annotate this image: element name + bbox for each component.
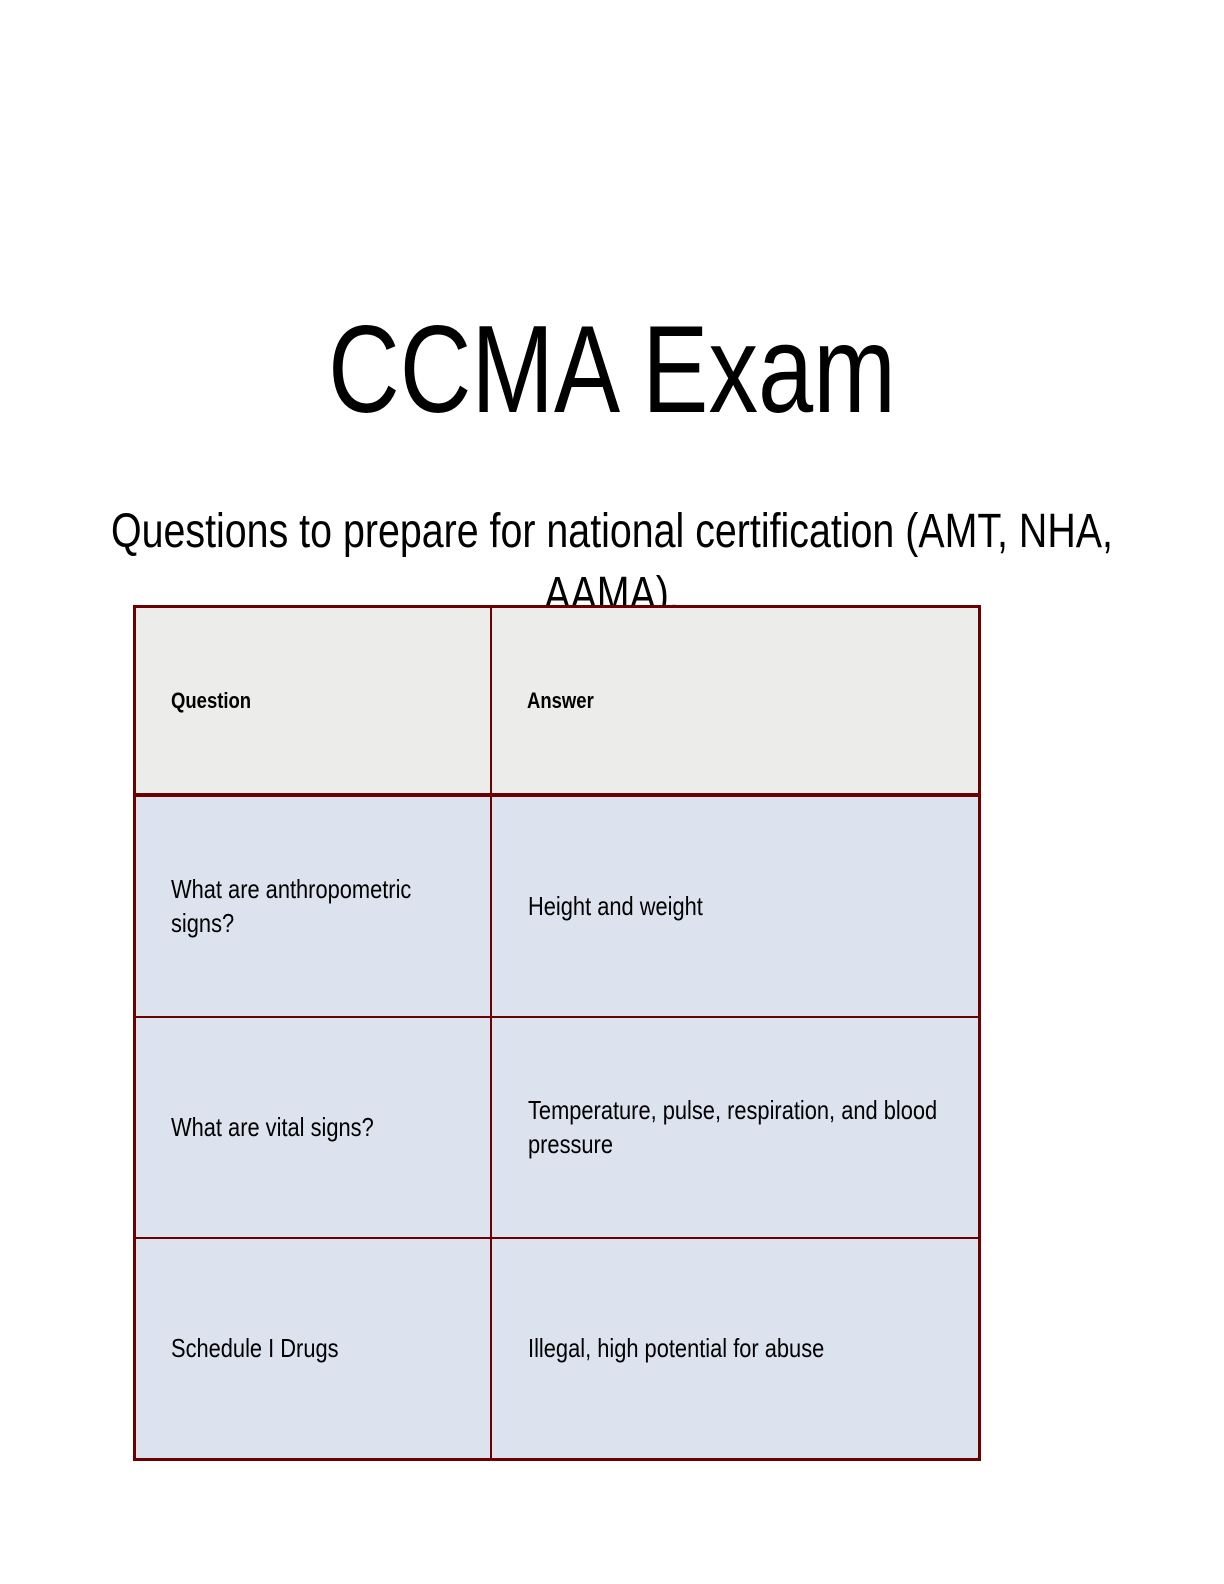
question-text: What are anthropometric signs? (171, 873, 475, 940)
answer-cell: Temperature, pulse, respiration, and blo… (491, 1017, 980, 1238)
question-answer-table: Question Answer What are anthropometric … (133, 605, 981, 1461)
question-cell: Schedule I Drugs (135, 1238, 491, 1460)
question-text: What are vital signs? (171, 1111, 475, 1144)
question-text: Schedule I Drugs (171, 1332, 475, 1365)
qa-table-container: Question Answer What are anthropometric … (133, 605, 978, 1461)
table-row: What are anthropometric signs? Height an… (135, 795, 980, 1017)
answer-text: Height and weight (528, 890, 964, 923)
table-header: Question Answer (135, 607, 980, 796)
answer-cell: Illegal, high potential for abuse (491, 1238, 980, 1460)
table-row: What are vital signs? Temperature, pulse… (135, 1017, 980, 1238)
table-header-row: Question Answer (135, 607, 980, 796)
document-page: CCMA Exam Questions to prepare for natio… (0, 0, 1224, 1584)
column-header-question: Question (135, 607, 491, 796)
answer-text: Illegal, high potential for abuse (528, 1332, 964, 1365)
column-header-question-label: Question (171, 688, 251, 714)
table-row: Schedule I Drugs Illegal, high potential… (135, 1238, 980, 1460)
page-title: CCMA Exam (122, 305, 1101, 435)
answer-text: Temperature, pulse, respiration, and blo… (528, 1094, 964, 1161)
table-body: What are anthropometric signs? Height an… (135, 795, 980, 1460)
question-cell: What are anthropometric signs? (135, 795, 491, 1017)
question-cell: What are vital signs? (135, 1017, 491, 1238)
column-header-answer: Answer (491, 607, 980, 796)
column-header-answer-label: Answer (527, 688, 594, 714)
answer-cell: Height and weight (491, 795, 980, 1017)
